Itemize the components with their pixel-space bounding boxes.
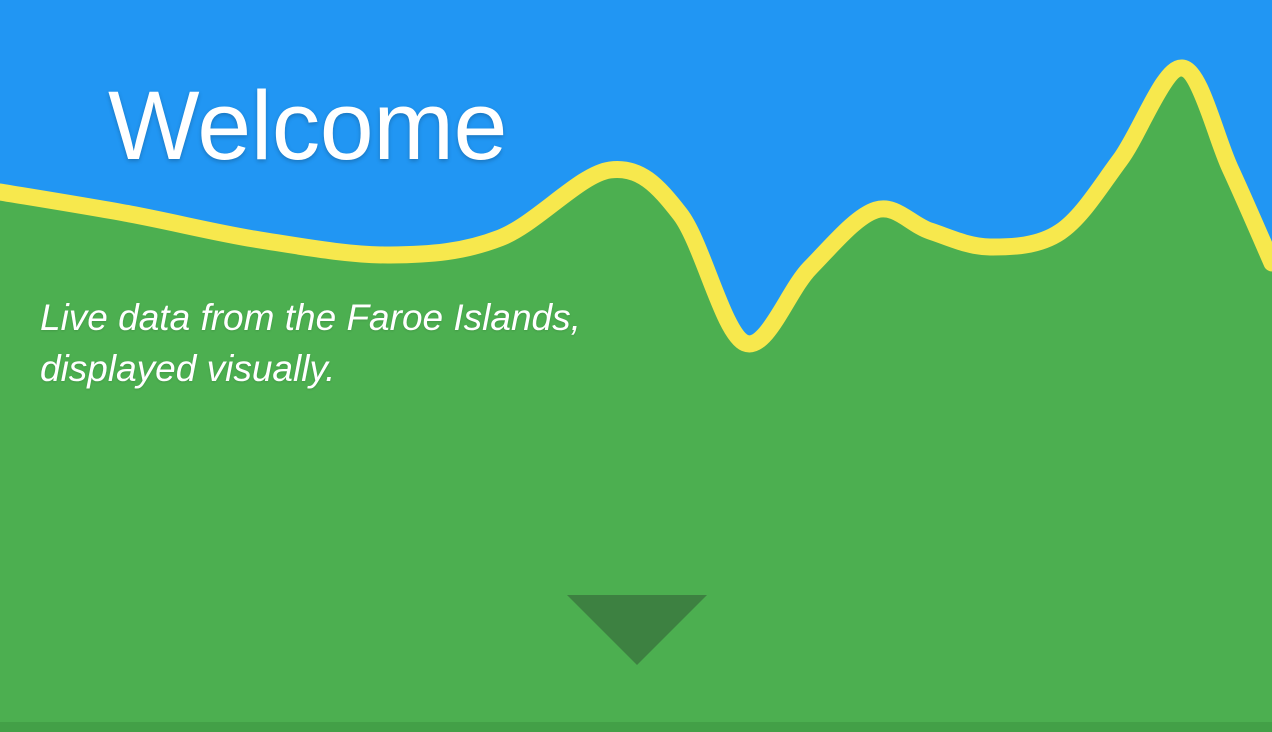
hero-banner: Welcome Live data from the Faroe Islands… xyxy=(0,0,1272,732)
bottom-edge-band xyxy=(0,722,1272,732)
scroll-down-arrow-icon[interactable] xyxy=(567,595,707,665)
